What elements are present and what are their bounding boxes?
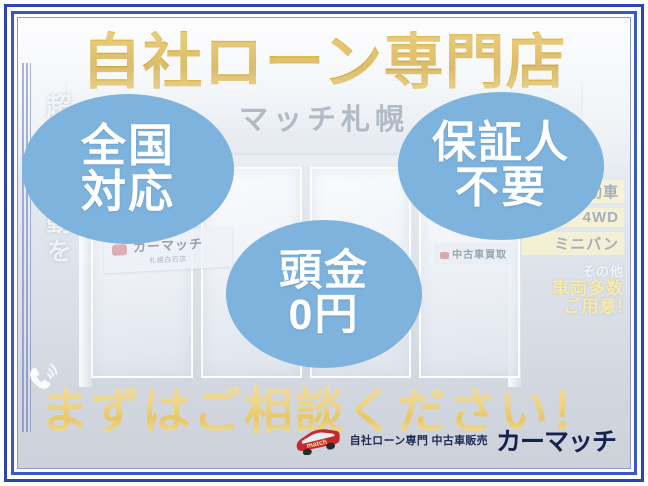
feature-bubble-zero-down: 頭金 0円 <box>226 220 422 368</box>
bubble-downpayment-line1: 頭金 <box>279 250 369 294</box>
bubble-guarantor-line2: 不要 <box>455 166 547 211</box>
plaque-logo-mark <box>112 244 127 256</box>
red-car-icon: match <box>290 425 342 455</box>
bubble-nationwide-line1: 全国 <box>81 123 175 169</box>
car-loan-banner: マッチ札幌 カーマッチ 札幌白石店 中古車買取 超える感動を わせください!! … <box>0 0 648 486</box>
carmatch-logo: match 自社ローン専門 中古車販売 カーマッチ <box>290 422 616 458</box>
logo-brand-name: カーマッチ <box>496 422 616 458</box>
plaque-sub-text: 札幌白石店 <box>149 254 187 266</box>
buy-sign-mark-icon <box>440 252 449 259</box>
bubble-downpayment-line2: 0円 <box>289 294 360 338</box>
vehicle-many-line2: ご用意! <box>522 298 624 316</box>
bubble-guarantor-line1: 保証人 <box>432 121 570 166</box>
buy-sign-text: 中古車買取 <box>452 250 507 261</box>
feature-bubble-no-guarantor: 保証人 不要 <box>398 92 604 240</box>
used-car-purchase-sign: 中古車買取 <box>434 243 513 264</box>
bubble-nationwide-line2: 対応 <box>81 169 175 215</box>
banner-headline: 自社ローン専門店 <box>0 14 648 101</box>
feature-bubble-nationwide: 全国 対応 <box>22 94 234 244</box>
vehicle-type-other: その他 <box>522 261 624 280</box>
logo-tagline: 自社ローン専門 中古車販売 <box>350 432 488 448</box>
vehicle-many-line1: 車両多数 <box>522 280 624 298</box>
vehicle-type-minivan: ミニバン <box>522 232 624 255</box>
